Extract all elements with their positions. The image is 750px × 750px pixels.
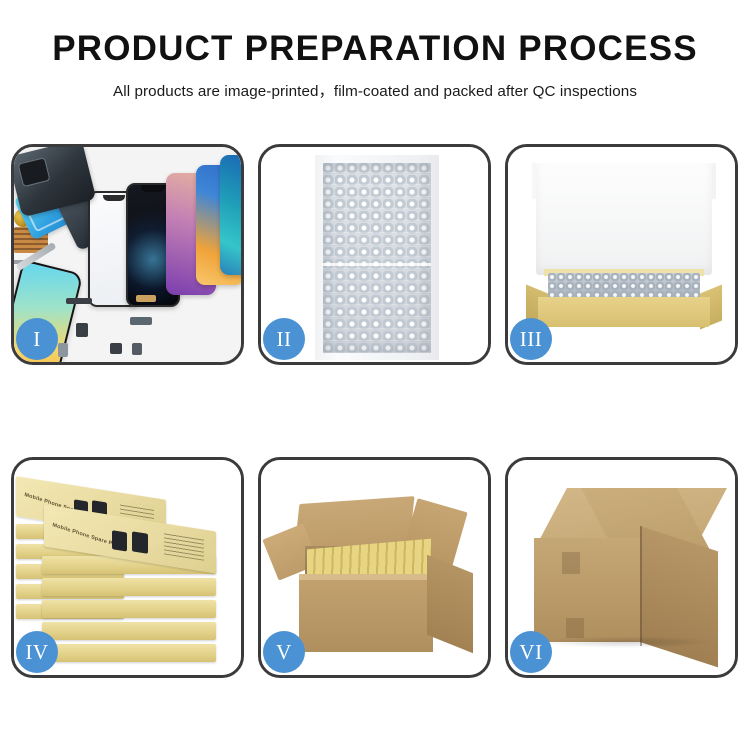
page-subtitle: All products are image-printed，film-coat…: [0, 79, 750, 101]
sealed-carton-front-face: [534, 538, 642, 642]
bubble-wrapped-contents-icon: [548, 273, 700, 299]
step-badge-3: III: [510, 318, 552, 360]
carton-tape-patch: [562, 552, 580, 574]
step-badge-4: IV: [16, 631, 58, 673]
step-badge-5: V: [263, 631, 305, 673]
ribbon-cable-part-icon: [130, 317, 152, 325]
box-phone-image: [112, 530, 127, 551]
flex-cable-part-icon: [66, 298, 92, 304]
box-spec-lines: [164, 532, 204, 560]
carton-shadow: [538, 636, 714, 648]
sealed-carton-corner-seam: [640, 526, 642, 646]
step-badge-2: II: [263, 318, 305, 360]
step-badge-6: VI: [510, 631, 552, 673]
step-panel-6: VI: [505, 457, 738, 678]
carton-tape-patch: [566, 618, 584, 638]
step-badge-1: I: [16, 318, 58, 360]
kraft-box-tray-icon: [538, 297, 710, 327]
stack-box: [42, 644, 216, 662]
bubble-wrap-icon: [323, 163, 431, 353]
stack-box: [42, 578, 216, 596]
steps-grid: I II III: [11, 144, 739, 678]
pouch-seam: [323, 263, 431, 266]
carton-side-face: [427, 555, 473, 654]
step-panel-2: II: [258, 144, 491, 365]
camera-module-part-icon: [132, 343, 142, 355]
sim-tray-part-icon: [58, 343, 68, 357]
white-box-lid-icon: [536, 163, 712, 275]
stack-box: [42, 600, 216, 618]
step-panel-5: V: [258, 457, 491, 678]
product-preparation-infographic: PRODUCT PREPARATION PROCESS All products…: [0, 0, 750, 750]
stack-box: [42, 622, 216, 640]
header: PRODUCT PREPARATION PROCESS All products…: [0, 0, 750, 101]
small-button-part-icon: [76, 323, 88, 337]
teal-phone-icon: [220, 155, 241, 275]
gold-connector-part-icon: [136, 295, 156, 302]
carton-front-face: [299, 580, 433, 652]
step-panel-1: I: [11, 144, 244, 365]
page-title: PRODUCT PREPARATION PROCESS: [0, 30, 750, 69]
step-panel-3: III: [505, 144, 738, 365]
speaker-part-icon: [110, 343, 122, 354]
box-phone-image: [132, 531, 148, 554]
step-panel-4: Mobile Phone Spare Parts Mobile Phone Sp…: [11, 457, 244, 678]
